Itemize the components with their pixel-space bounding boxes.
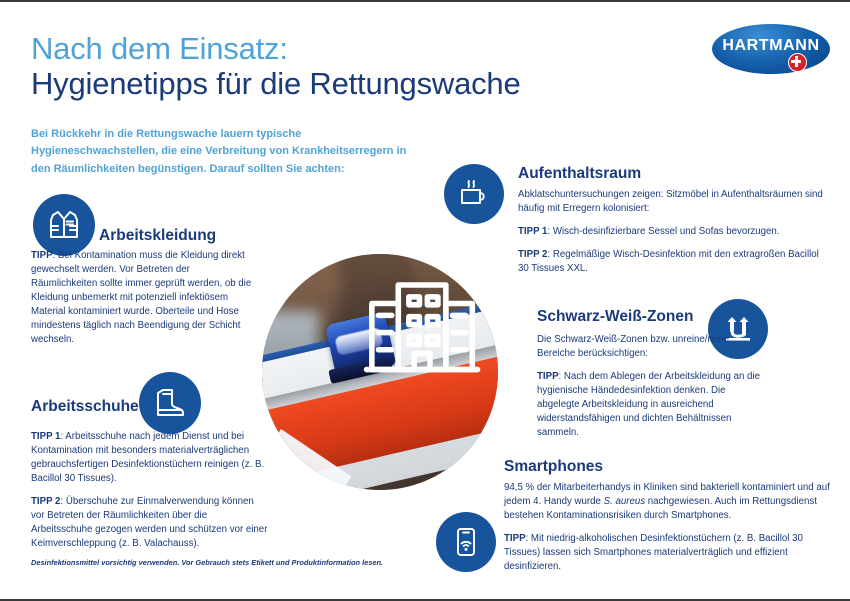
tip-text: : Wisch-desinfizierbare Sessel und Sofas…	[547, 226, 779, 237]
infographic-page: HARTMANN Nach dem Einsatz: Hygienetipps …	[0, 0, 850, 601]
section-title-arbeitsschuhe: Arbeitsschuhe	[31, 398, 141, 415]
tip-text: : Bei Kontamination muss die Kleidung di…	[31, 250, 251, 345]
tip-label: TIPP	[31, 250, 53, 261]
intro-text: 94,5 % der Mitarbeiterhandys in Kliniken…	[504, 482, 830, 521]
tip-label: TIPP 2	[31, 496, 60, 507]
tip-text: : Mit niedrig-alkoholischen Desinfektion…	[504, 533, 803, 572]
section-title-arbeitskleidung: Arbeitskleidung	[99, 227, 269, 244]
tip-label: TIPP 1	[31, 431, 60, 442]
section-body-smartphones: 94,5 % der Mitarbeiterhandys in Kliniken…	[504, 481, 834, 574]
hartmann-logo: HARTMANN	[712, 24, 830, 74]
paragraph: TIPP: Bei Kontamination muss die Kleidun…	[31, 249, 253, 347]
section-body-schwarz-weiss-zonen: Die Schwarz-Weiß-Zonen bzw. unreine/rein…	[537, 333, 769, 440]
ambulance-photo	[262, 254, 498, 490]
intro-text: Abklatschuntersuchungen zeigen: Sitzmöbe…	[518, 189, 823, 214]
tip-label: TIPP	[537, 371, 559, 382]
safety-vest-icon	[33, 194, 95, 256]
paragraph: TIPP 2: Regelmäßige Wisch-Desinfektion m…	[518, 248, 824, 276]
paragraph: TIPP 2: Überschuhe zur Einmalverwendung …	[31, 495, 269, 551]
tip-text: : Arbeitsschuhe nach jedem Dienst und be…	[31, 431, 264, 484]
paragraph: Die Schwarz-Weiß-Zonen bzw. unreine/rein…	[537, 333, 769, 361]
paragraph: 94,5 % der Mitarbeiterhandys in Kliniken…	[504, 481, 834, 523]
section-body-aufenthaltsraum: Abklatschuntersuchungen zeigen: Sitzmöbe…	[518, 188, 824, 276]
building-icon	[356, 268, 488, 381]
logo-wordmark: HARTMANN	[712, 37, 830, 55]
hartmann-cross-badge-icon	[788, 53, 807, 72]
paragraph: TIPP: Nach dem Ablegen der Arbeitskleidu…	[537, 370, 769, 440]
intro-text: Die Schwarz-Weiß-Zonen bzw. unreine/rein…	[537, 334, 729, 359]
page-title: Nach dem Einsatz: Hygienetipps für die R…	[31, 32, 611, 101]
section-title-schwarz-weiss-zonen: Schwarz-Weiß-Zonen	[537, 308, 767, 325]
tip-text: : Nach dem Ablegen der Arbeitskleidung a…	[537, 371, 760, 438]
paragraph: TIPP 1: Wisch-desinfizierbare Sessel und…	[518, 225, 824, 239]
section-body-arbeitskleidung: TIPP: Bei Kontamination muss die Kleidun…	[31, 249, 253, 347]
tip-label: TIPP	[504, 533, 526, 544]
tip-label: TIPP 1	[518, 226, 547, 237]
tip-text: : Überschuhe zur Einmalverwendung können…	[31, 496, 267, 549]
title-line-1: Nach dem Einsatz:	[31, 32, 611, 67]
paragraph: Abklatschuntersuchungen zeigen: Sitzmöbe…	[518, 188, 824, 216]
disclaimer-footnote: Desinfektionsmittel vorsichtig verwenden…	[31, 558, 451, 567]
section-body-arbeitsschuhe: TIPP 1: Arbeitsschuhe nach jedem Dienst …	[31, 430, 269, 552]
safety-boot-icon	[139, 372, 201, 434]
section-title-smartphones: Smartphones	[504, 458, 804, 475]
paragraph: TIPP 1: Arbeitsschuhe nach jedem Dienst …	[31, 430, 269, 486]
paragraph: TIPP: Mit niedrig-alkoholischen Desinfek…	[504, 532, 834, 574]
tip-label: TIPP 2	[518, 249, 547, 260]
section-title-aufenthaltsraum: Aufenthaltsraum	[518, 165, 818, 182]
intro-paragraph: Bei Rückkehr in die Rettungswache lauern…	[31, 126, 416, 178]
title-line-2: Hygienetipps für die Rettungswache	[31, 67, 611, 102]
coffee-cup-icon	[444, 164, 504, 224]
tip-text: : Regelmäßige Wisch-Desinfektion mit den…	[518, 249, 819, 274]
